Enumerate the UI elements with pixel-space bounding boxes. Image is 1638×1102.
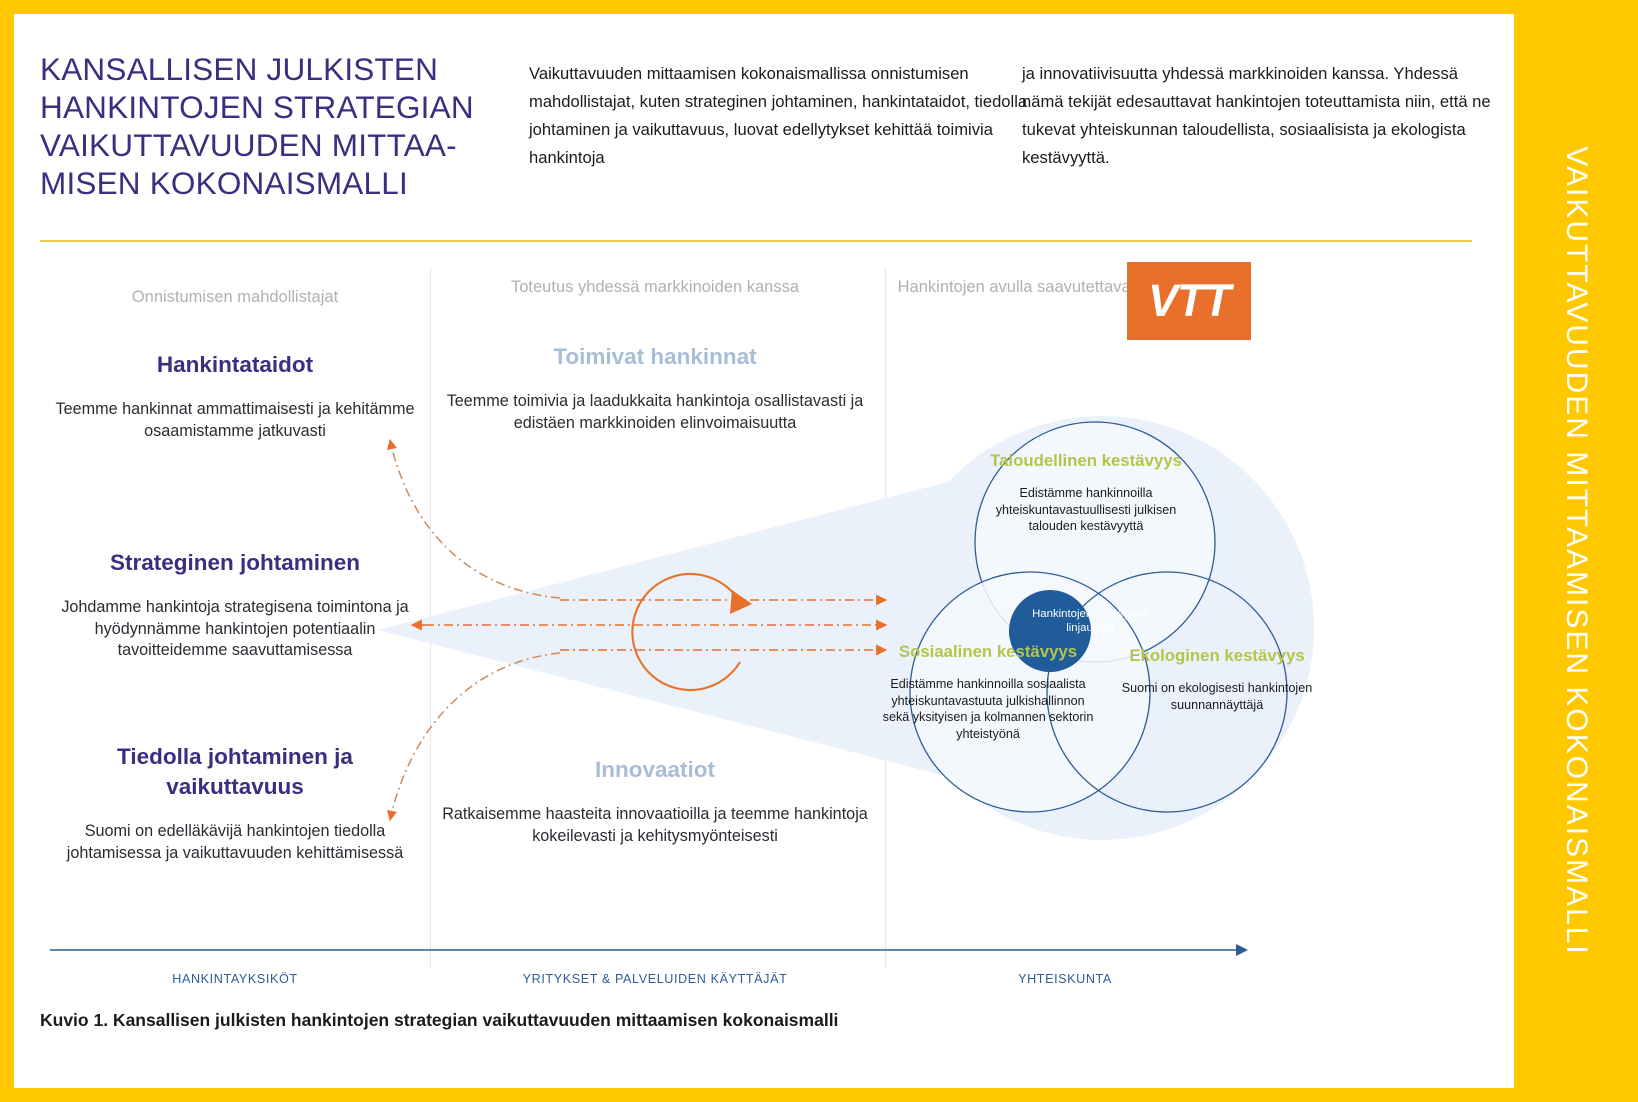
axis-label-hankintayksikot: HANKINTAYKSIKÖT xyxy=(70,972,400,986)
enabler-text: Johdamme hankintoja strategisena toimint… xyxy=(50,597,420,662)
axis-label-yritykset: YRITYKSET & PALVELUIDEN KÄYTTÄJÄT xyxy=(440,972,870,986)
enabler-title: Tiedolla johtaminen ja vaikuttavuus xyxy=(50,742,420,802)
implementation-title: Innovaatiot xyxy=(440,755,870,785)
venn-text: Edistämme hankinnoilla sosiaalista yhtei… xyxy=(880,676,1096,742)
enabler-block-tiedolla-johtaminen: Tiedolla johtaminen ja vaikuttavuus Suom… xyxy=(50,742,420,864)
frame-left-bar xyxy=(0,0,14,1102)
implementation-text: Ratkaisemme haasteita innovaatioilla ja … xyxy=(440,804,870,847)
frame-top-bar xyxy=(0,0,1638,14)
venn-label-ekologinen: Ekologinen kestävyys Suomi on ekologises… xyxy=(1114,645,1320,713)
intro-paragraph-1: Vaikuttavuuden mittaamisen kokonaismalli… xyxy=(529,60,1029,172)
header-divider-rule xyxy=(40,240,1472,242)
enabler-text: Teemme hankinnat ammattimaisesti ja kehi… xyxy=(50,399,420,442)
venn-core-label: Hankintojen strategiset linjaukset xyxy=(1012,607,1168,635)
frame-bottom-bar xyxy=(0,1088,1638,1102)
venn-label-taloudellinen: Taloudellinen kestävyys Edistämme hankin… xyxy=(978,450,1194,535)
venn-text: Suomi on ekologisesti hankintojen suunna… xyxy=(1114,680,1320,713)
infographic-page: VAIKUTTAVUUDEN MITTAAMISEN KOKONAISMALLI… xyxy=(0,0,1638,1102)
venn-title: Ekologinen kestävyys xyxy=(1114,645,1320,666)
implementation-block-toimivat-hankinnat: Toimivat hankinnat Teemme toimivia ja la… xyxy=(440,342,870,434)
side-vertical-label: VAIKUTTAVUUDEN MITTAAMISEN KOKONAISMALLI xyxy=(1514,0,1638,1102)
diagram-canvas: Onnistumisen mahdollistajat Toteutus yhd… xyxy=(40,250,1472,995)
venn-title: Sosiaalinen kestävyys xyxy=(880,641,1096,662)
bottom-axis-arrowhead xyxy=(1236,944,1248,956)
enabler-block-strateginen-johtaminen: Strateginen johtaminen Johdamme hankinto… xyxy=(50,548,420,662)
venn-text: Edistämme hankinnoilla yhteiskuntavastuu… xyxy=(978,485,1194,535)
intro-paragraph-2: ja innovatiivisuutta yhdessä markkinoide… xyxy=(1022,60,1492,172)
enabler-text: Suomi on edelläkävijä hankintojen tiedol… xyxy=(50,821,420,864)
venn-title: Taloudellinen kestävyys xyxy=(978,450,1194,471)
page-title: KANSALLISEN JULKISTEN HANKINTOJEN STRATE… xyxy=(40,50,510,202)
enabler-title: Hankintataidot xyxy=(50,350,420,380)
figure-caption: Kuvio 1. Kansallisen julkisten hankintoj… xyxy=(40,1010,1440,1031)
implementation-block-innovaatiot: Innovaatiot Ratkaisemme haasteita innova… xyxy=(440,755,870,847)
enabler-title: Strateginen johtaminen xyxy=(50,548,420,578)
implementation-title: Toimivat hankinnat xyxy=(440,342,870,372)
implementation-text: Teemme toimivia ja laadukkaita hankintoj… xyxy=(440,391,870,434)
axis-label-yhteiskunta: YHTEISKUNTA xyxy=(900,972,1230,986)
side-vertical-label-text: VAIKUTTAVUUDEN MITTAAMISEN KOKONAISMALLI xyxy=(1559,146,1593,956)
enabler-block-hankintataidot: Hankintataidot Teemme hankinnat ammattim… xyxy=(50,350,420,442)
venn-label-sosiaalinen: Sosiaalinen kestävyys Edistämme hankinno… xyxy=(880,641,1096,742)
